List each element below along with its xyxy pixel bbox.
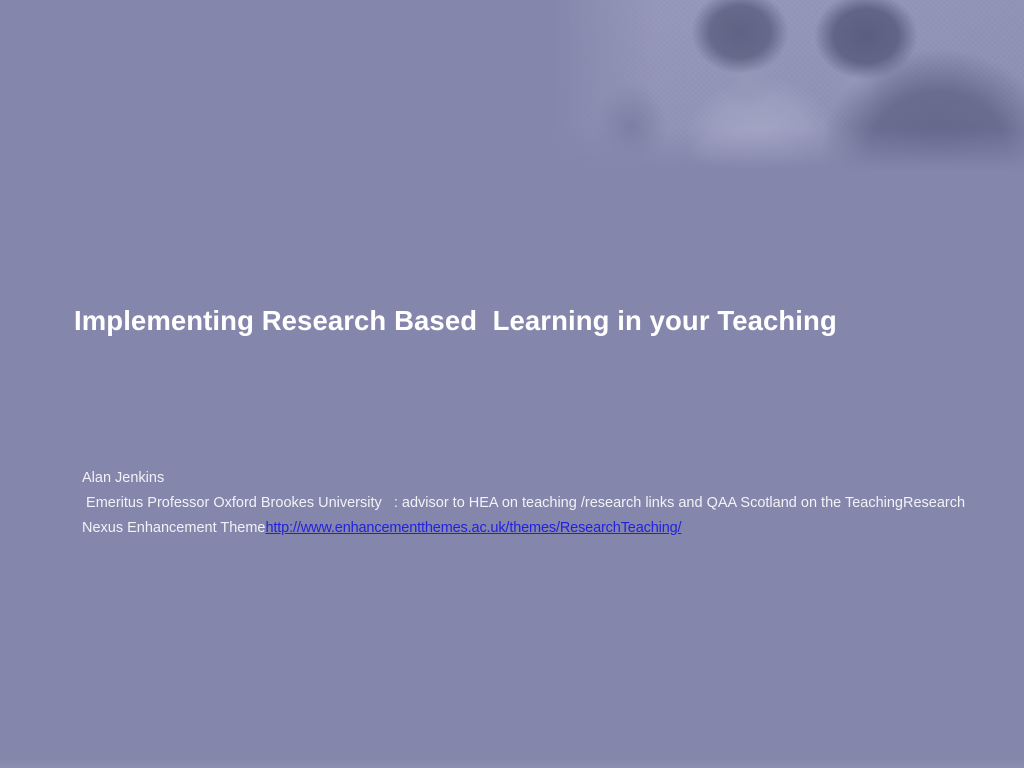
bottom-band <box>0 759 1024 768</box>
enhancement-themes-link[interactable]: http://www.enhancementthemes.ac.uk/theme… <box>266 520 682 536</box>
page-title: Implementing Research Based Learning in … <box>74 305 974 337</box>
byline-block: Alan Jenkins Emeritus Professor Oxford B… <box>82 466 982 541</box>
affiliation-line-1: Emeritus Professor Oxford Brookes Univer… <box>82 495 903 511</box>
students-with-tablet-photo <box>548 0 1024 170</box>
affiliation-text: Emeritus Professor Oxford Brookes Univer… <box>82 491 982 541</box>
presentation-slide: Implementing Research Based Learning in … <box>0 0 1024 768</box>
photo-image <box>548 0 1024 170</box>
author-name: Alan Jenkins <box>82 466 982 491</box>
